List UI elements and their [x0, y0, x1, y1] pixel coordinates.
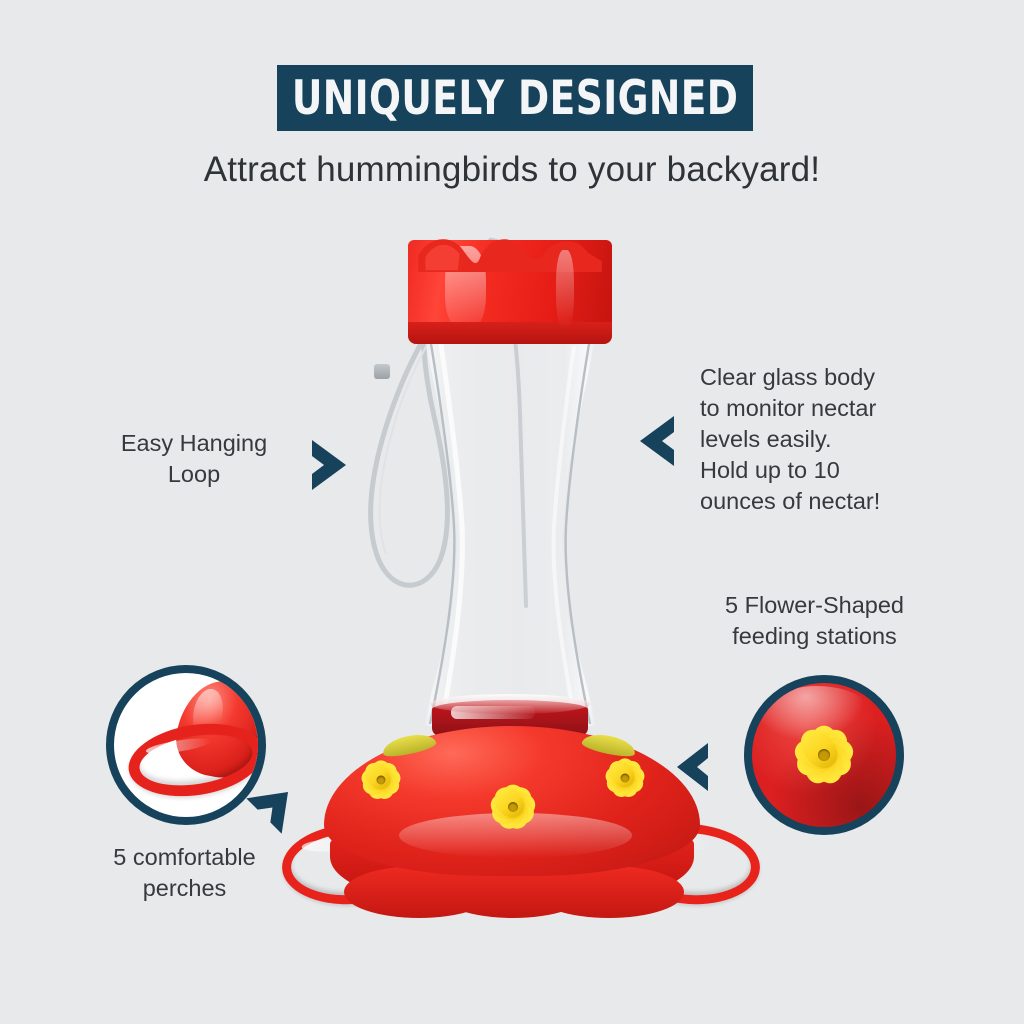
- callout-clear-glass-line3: levels easily.: [700, 424, 940, 455]
- cap-scalloped-edge: [408, 236, 612, 272]
- chevron-left-icon: [672, 740, 714, 794]
- callout-clear-glass-line4: Hold up to 10: [700, 455, 940, 486]
- closeup-flower: [774, 709, 874, 801]
- nectar-surface: [430, 694, 590, 714]
- infographic-canvas: UNIQUELY DESIGNED Attract hummingbirds t…: [0, 0, 1024, 1024]
- callout-clear-glass: Clear glass body to monitor nectar level…: [700, 362, 940, 517]
- callout-perches: 5 comfortable perches: [72, 842, 297, 904]
- callout-clear-glass-line2: to monitor nectar: [700, 393, 940, 424]
- feeding-flower-center: [470, 772, 556, 842]
- glass-reservoir: [424, 336, 596, 726]
- callout-perches-line1: 5 comfortable: [72, 842, 297, 873]
- perch-closeup-inset: [106, 665, 266, 825]
- flower-center-port: [818, 749, 830, 761]
- cap-highlight: [556, 250, 574, 328]
- flower-closeup-inset: [744, 675, 904, 835]
- callout-clear-glass-line1: Clear glass body: [700, 362, 940, 393]
- callout-clear-glass-line5: ounces of nectar!: [700, 486, 940, 517]
- chevron-right-icon: [306, 436, 352, 494]
- callout-hanging-loop-line1: Easy Hanging: [88, 428, 300, 459]
- callout-feeding-stations-line2: feeding stations: [692, 621, 937, 652]
- chevron-left-icon: [634, 412, 680, 470]
- cord-toggle: [374, 364, 390, 379]
- callout-hanging-loop: Easy Hanging Loop: [88, 428, 300, 490]
- callout-hanging-loop-line2: Loop: [88, 459, 300, 490]
- feeding-flower-right: [588, 748, 662, 808]
- callout-feeding-stations-line1: 5 Flower-Shaped: [692, 590, 937, 621]
- feeding-flower-left: [344, 750, 418, 810]
- flower-center-port: [377, 776, 386, 785]
- flower-center-port: [621, 774, 630, 783]
- callout-perches-line2: perches: [72, 873, 297, 904]
- flower-center-port: [508, 802, 518, 812]
- cap-lower-band: [408, 322, 612, 344]
- callout-feeding-stations: 5 Flower-Shaped feeding stations: [692, 590, 937, 652]
